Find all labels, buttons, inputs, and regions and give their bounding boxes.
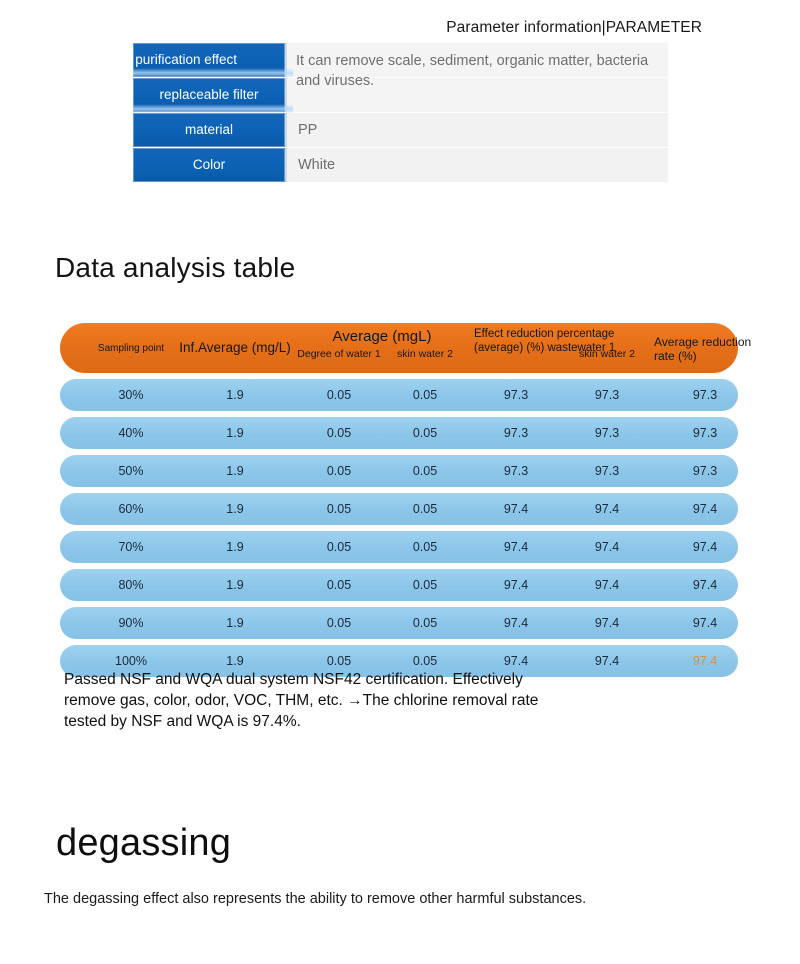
table-row: 80% 1.9 0.05 0.05 97.4 97.4 97.4 [60,569,738,601]
cell-sampling-point: 40% [88,417,174,449]
cell-eff-water2: 97.4 [564,531,650,563]
parameter-value-color: White [285,148,668,182]
cell-avg-water1: 0.05 [296,569,382,601]
parameter-label-purification-effect: r purification effect [133,43,285,77]
table-header-row: Sampling point Inf.Average (mg/L) Averag… [60,323,738,373]
cell-inf-average: 1.9 [174,569,296,601]
cell-avg-reduction: 97.4 [650,493,760,525]
cell-avg-reduction: 97.4 [650,531,760,563]
cell-avg-reduction: 97.3 [650,417,760,449]
cell-eff-wastewater1: 97.4 [468,607,564,639]
cell-sampling-point: 50% [88,455,174,487]
column-header-sampling-point: Sampling point [88,323,174,373]
cell-eff-water2: 97.3 [564,379,650,411]
cell-inf-average: 1.9 [174,531,296,563]
cell-inf-average: 1.9 [174,607,296,639]
cell-avg-water1: 0.05 [296,493,382,525]
page-title: Data analysis table [55,252,295,284]
cell-avg-water2: 0.05 [382,569,468,601]
cell-avg-water1: 0.05 [296,455,382,487]
column-header-inf-average: Inf.Average (mg/L) [174,323,296,373]
table-row: replaceable filter [133,78,668,112]
cell-eff-wastewater1: 97.3 [468,417,564,449]
table-row: r purification effect [133,43,668,77]
cell-avg-water2: 0.05 [382,455,468,487]
cell-sampling-point: 60% [88,493,174,525]
cell-avg-water2: 0.05 [382,417,468,449]
column-header-degree-of-water-1: Degree of water 1 [296,349,382,361]
cell-sampling-point: 80% [88,569,174,601]
cell-avg-water2: 0.05 [382,607,468,639]
cell-inf-average: 1.9 [174,455,296,487]
table-row: 30% 1.9 0.05 0.05 97.3 97.3 97.3 [60,379,738,411]
cell-eff-water2: 97.3 [564,417,650,449]
cell-inf-average: 1.9 [174,417,296,449]
cell-sampling-point: 30% [88,379,174,411]
table-row: Color White [133,148,668,182]
parameter-label-replaceable-filter: replaceable filter [133,78,285,112]
cell-eff-wastewater1: 97.4 [468,531,564,563]
cell-eff-water2: 97.4 [564,607,650,639]
table-row: 70% 1.9 0.05 0.05 97.4 97.4 97.4 [60,531,738,563]
cell-avg-reduction: 97.4 [650,607,760,639]
cell-avg-water1: 0.05 [296,379,382,411]
cell-avg-reduction: 97.3 [650,379,760,411]
degassing-heading: degassing [56,822,231,865]
table-row: 90% 1.9 0.05 0.05 97.4 97.4 97.4 [60,607,738,639]
cell-eff-wastewater1: 97.4 [468,569,564,601]
cell-avg-reduction-highlighted: 97.4 [650,645,760,677]
cell-avg-water2: 0.05 [382,531,468,563]
cell-avg-water1: 0.05 [296,417,382,449]
cell-eff-water2: 97.4 [564,569,650,601]
cell-inf-average: 1.9 [174,493,296,525]
table-row: 60% 1.9 0.05 0.05 97.4 97.4 97.4 [60,493,738,525]
cell-sampling-point: 90% [88,607,174,639]
parameter-label-material: material [133,113,285,147]
parameter-information-title: Parameter information|PARAMETER [446,19,702,37]
column-group-header-average: Average (mgL) [296,329,468,346]
certification-paragraph: Passed NSF and WQA dual system NSF42 cer… [64,669,564,733]
parameter-value-purification-effect [285,43,668,77]
cell-sampling-point: 70% [88,531,174,563]
cell-avg-water1: 0.05 [296,607,382,639]
parameter-label-color: Color [133,148,285,182]
degassing-description: The degassing effect also represents the… [44,890,644,910]
cell-eff-water2: 97.4 [564,493,650,525]
cell-eff-water2: 97.3 [564,455,650,487]
cell-eff-water2: 97.4 [564,645,650,677]
cell-inf-average: 1.9 [174,379,296,411]
cell-avg-reduction: 97.3 [650,455,760,487]
cell-avg-water2: 0.05 [382,379,468,411]
parameter-value-replaceable-filter [285,78,668,112]
cell-avg-water1: 0.05 [296,531,382,563]
cell-eff-wastewater1: 97.4 [468,493,564,525]
column-header-skin-water-2: skin water 2 [382,349,468,361]
column-header-average-reduction-rate: Average reduction rate (%) [654,335,766,364]
cell-avg-reduction: 97.4 [650,569,760,601]
cell-eff-wastewater1: 97.3 [468,455,564,487]
cell-eff-wastewater1: 97.3 [468,379,564,411]
table-row: 40% 1.9 0.05 0.05 97.3 97.3 97.3 [60,417,738,449]
table-row: material PP [133,113,668,147]
cell-avg-water2: 0.05 [382,493,468,525]
table-row: 50% 1.9 0.05 0.05 97.3 97.3 97.3 [60,455,738,487]
parameter-table: r purification effect replaceable filter… [133,43,668,183]
data-analysis-table: Sampling point Inf.Average (mg/L) Averag… [60,323,738,677]
column-header-effect-skin-water-2: skin water 2 [564,349,650,361]
parameter-value-material: PP [285,113,668,147]
